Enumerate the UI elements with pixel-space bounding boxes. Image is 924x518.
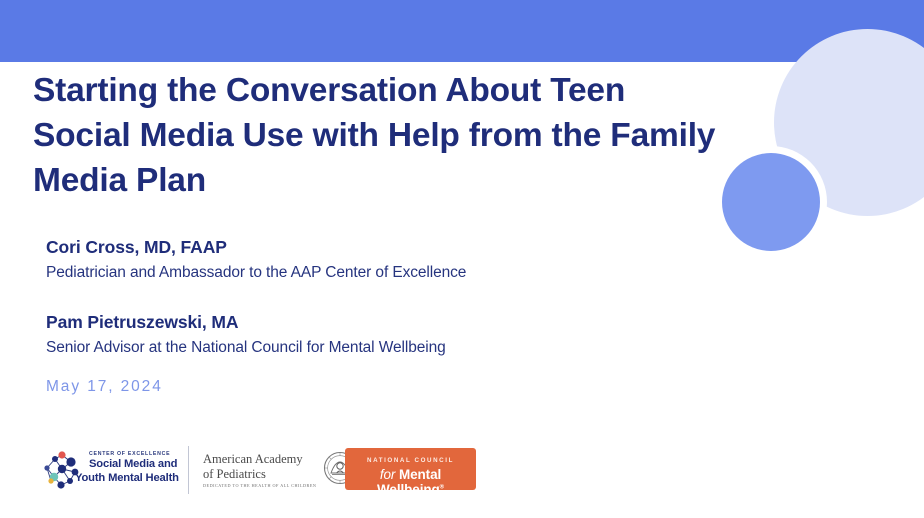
slide-content: Starting the Conversation About Teen Soc… xyxy=(0,0,924,518)
speaker-block-2: Pam Pietruszewski, MA Senior Advisor at … xyxy=(46,311,446,358)
coe-text-block: CENTER OF EXCELLENCE Social Media and Yo… xyxy=(89,451,181,485)
presentation-slide: Starting the Conversation About Teen Soc… xyxy=(0,0,924,518)
speaker-role: Senior Advisor at the National Council f… xyxy=(46,337,446,358)
speaker-name: Cori Cross, MD, FAAP xyxy=(46,236,466,258)
coe-eyebrow: CENTER OF EXCELLENCE xyxy=(89,451,181,458)
event-date: May 17, 2024 xyxy=(46,378,163,396)
nc-name-italic: for xyxy=(380,467,395,482)
page-title: Starting the Conversation About Teen Soc… xyxy=(33,68,723,203)
speaker-block-1: Cori Cross, MD, FAAP Pediatrician and Am… xyxy=(46,236,466,283)
aap-line-1: American Academy xyxy=(203,452,303,467)
nc-eyebrow: NATIONAL COUNCIL xyxy=(345,457,476,464)
logo-american-academy-pediatrics: American Academy of Pediatrics DEDICATED… xyxy=(203,446,353,496)
aap-line-2: of Pediatrics xyxy=(203,467,303,482)
logo-center-of-excellence: CENTER OF EXCELLENCE Social Media and Yo… xyxy=(40,446,180,496)
speaker-name: Pam Pietruszewski, MA xyxy=(46,311,446,333)
logo-national-council: NATIONAL COUNCIL for Mental Wellbeing® xyxy=(345,448,476,490)
nc-registered-mark: ® xyxy=(440,485,444,491)
logo-divider xyxy=(188,446,189,494)
nc-name: for Mental Wellbeing® xyxy=(345,467,476,497)
speaker-role: Pediatrician and Ambassador to the AAP C… xyxy=(46,262,466,283)
coe-name-line-1: Social Media and xyxy=(89,458,181,472)
aap-tagline: DEDICATED TO THE HEALTH OF ALL CHILDREN xyxy=(203,483,316,488)
coe-name-line-2: Youth Mental Health xyxy=(75,472,181,486)
aap-text-block: American Academy of Pediatrics xyxy=(203,452,303,481)
